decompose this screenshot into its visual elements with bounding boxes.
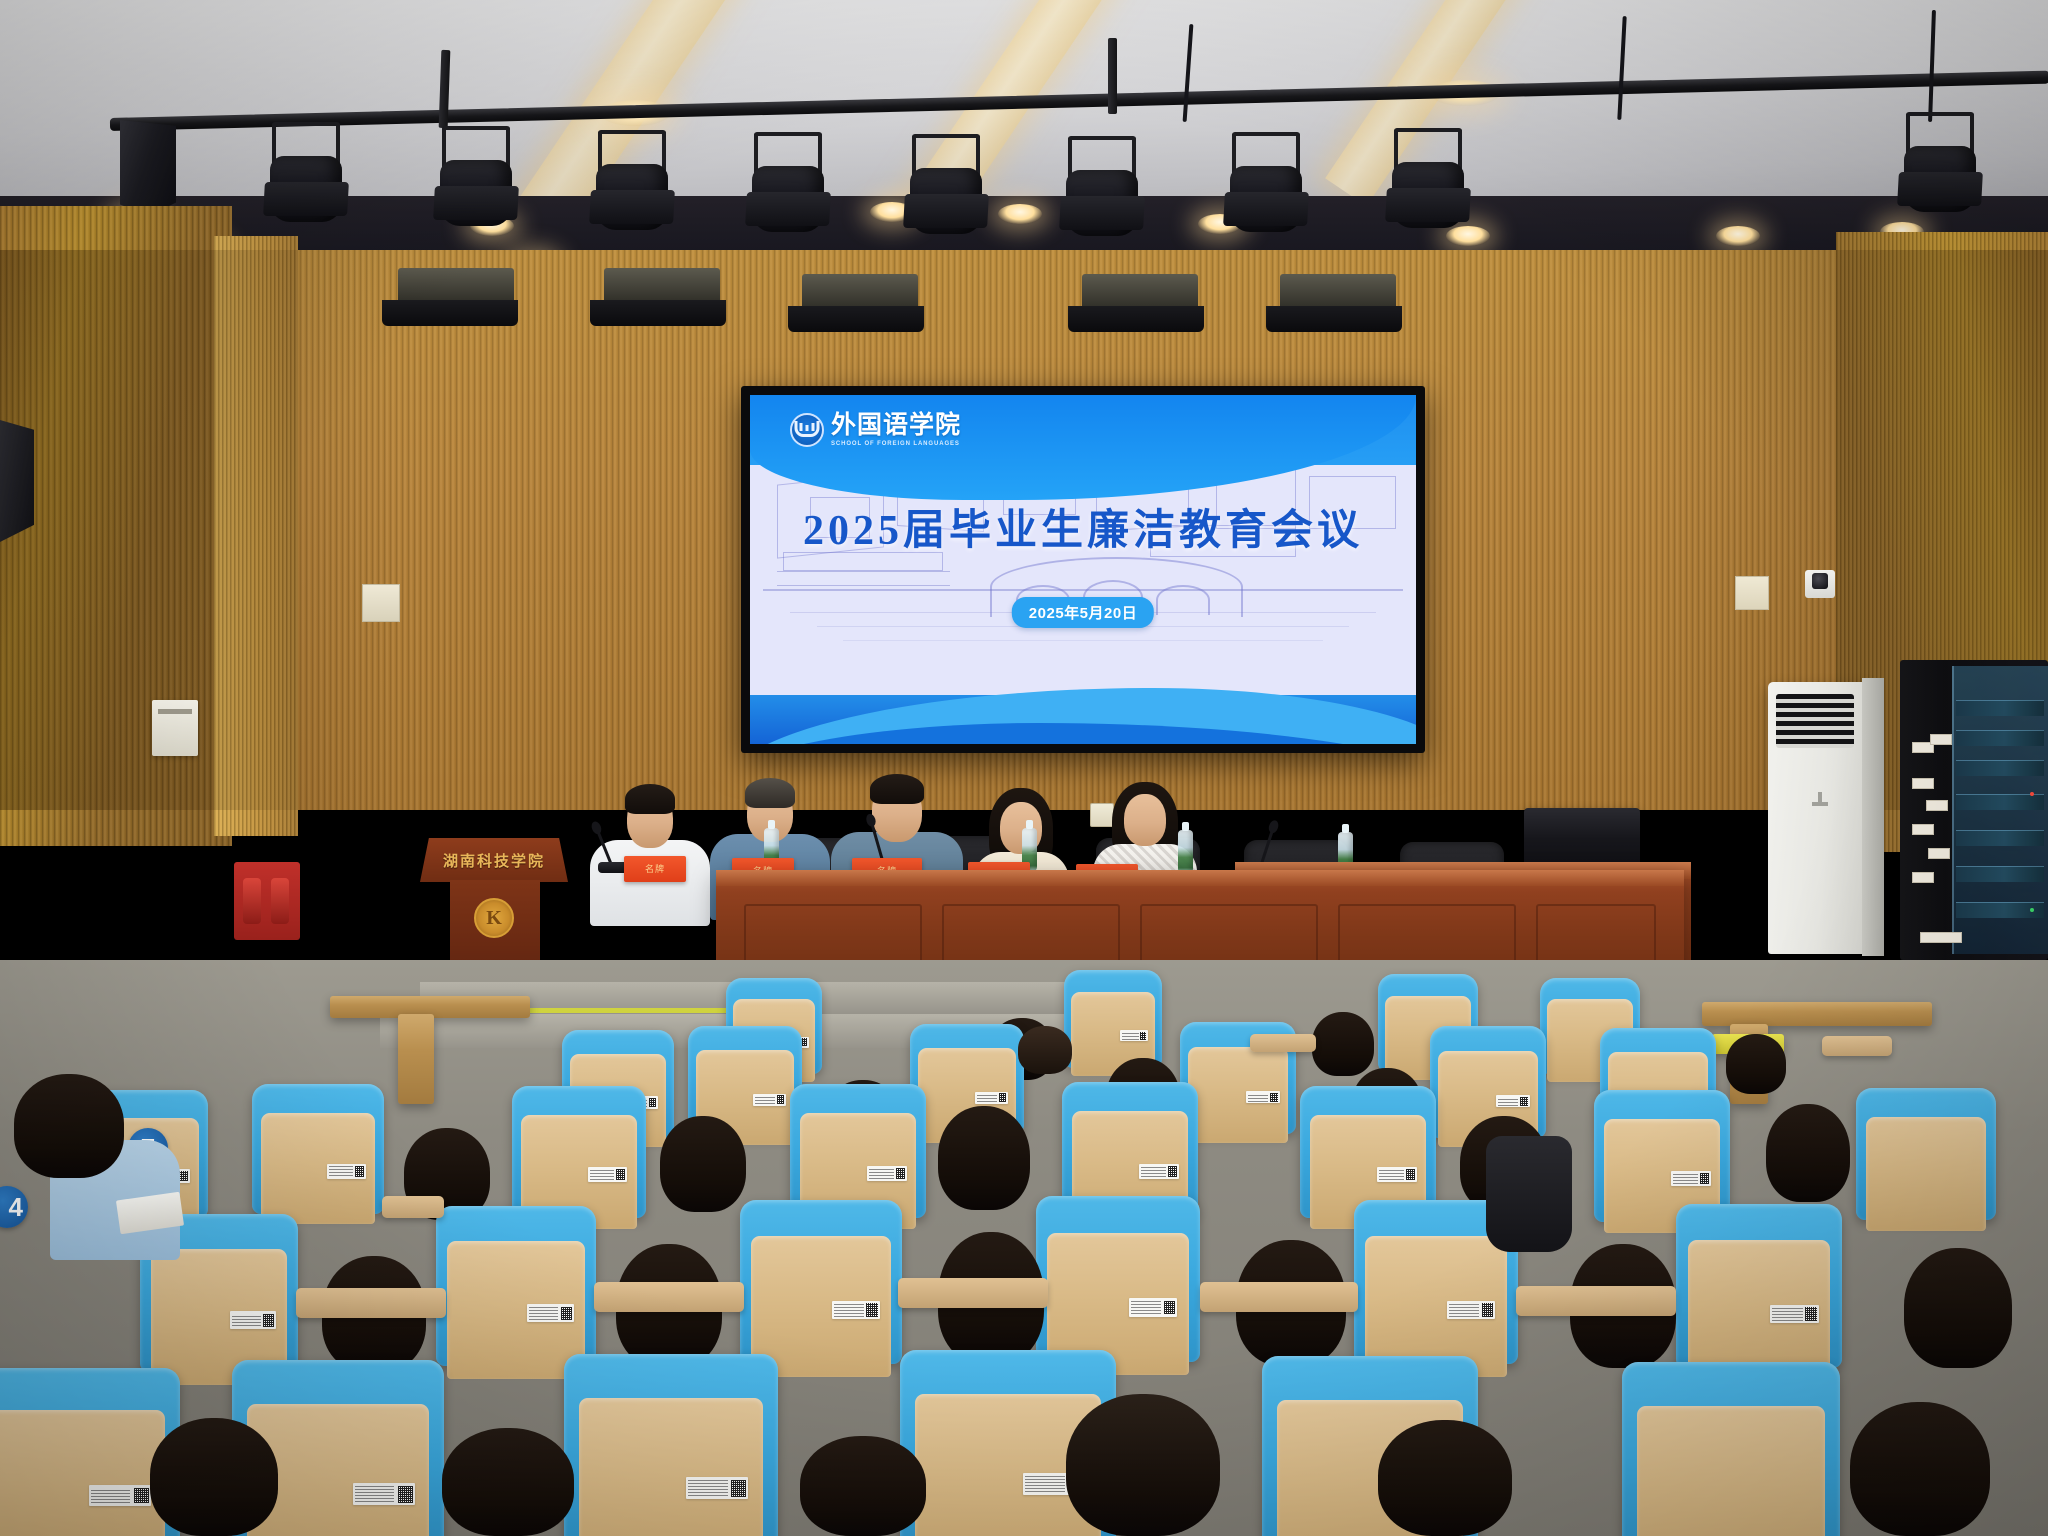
audience-head — [660, 1116, 746, 1212]
auditorium-seat — [1594, 1090, 1730, 1222]
auditorium-seat — [1622, 1362, 1840, 1536]
audience-head — [14, 1074, 124, 1178]
seat-label-text — [232, 1314, 261, 1326]
seat-back-panel — [1688, 1240, 1831, 1381]
seat-qr-label — [1496, 1095, 1530, 1108]
av-equipment-rack — [1900, 660, 2048, 960]
stage-spotlight — [748, 132, 828, 236]
rack-status-led — [2030, 908, 2034, 912]
seat-armrest — [382, 1196, 444, 1218]
wall-box-slot — [158, 709, 192, 714]
seat-back-panel — [0, 1410, 165, 1536]
ac-grille — [1776, 694, 1854, 748]
school-name-en: SCHOOL OF FOREIGN LANGUAGES — [831, 441, 961, 447]
auditorium-seat — [252, 1084, 384, 1214]
lectern-label: 湖南科技学院 — [420, 850, 568, 871]
wall-speaker — [0, 420, 34, 542]
seat-label-text — [91, 1488, 130, 1503]
auditorium-photo: 外国语学院 SCHOOL OF FOREIGN LANGUAGES 2025届毕… — [0, 0, 2048, 1536]
seat-back-panel — [1637, 1406, 1824, 1536]
auditorium-seat — [1676, 1204, 1842, 1368]
seat-label-text — [1122, 1032, 1139, 1040]
seat-label-text — [977, 1094, 997, 1103]
table-top-edge — [716, 870, 1684, 886]
wall-control-box — [152, 700, 198, 756]
seat-qr-label — [1246, 1091, 1280, 1104]
seat-armrest — [1250, 1034, 1316, 1052]
rack-card — [1956, 866, 2044, 882]
seat-armrest — [594, 1282, 744, 1312]
stage-wash-light-body — [382, 300, 518, 326]
qr-code-icon — [777, 1095, 785, 1104]
seat-back-panel — [1866, 1117, 1986, 1231]
audience-head — [1726, 1034, 1786, 1094]
qr-code-icon — [1140, 1032, 1146, 1040]
stage-spotlight — [1062, 136, 1142, 240]
seat-label-text — [834, 1304, 863, 1317]
stage-spotlight — [266, 122, 346, 226]
qr-code-icon — [179, 1171, 188, 1182]
spotlight-barndoor — [745, 192, 831, 226]
truss-dropper — [1108, 38, 1117, 114]
meeting-date-badge: 2025年5月20日 — [1012, 597, 1154, 628]
qr-code-icon — [616, 1169, 625, 1180]
audience-head — [1378, 1420, 1512, 1536]
auditorium-seat — [1856, 1088, 1996, 1220]
seat-label-text — [1141, 1167, 1165, 1177]
rack-card — [1956, 830, 2044, 846]
audience-head — [1066, 1394, 1220, 1536]
side-desk — [1702, 1002, 1932, 1026]
air-conditioner — [1768, 682, 1874, 954]
panelist-head — [1124, 794, 1166, 846]
meeting-title: 2025届毕业生廉洁教育会议 — [750, 496, 1416, 557]
wall-mounted-panel — [362, 584, 400, 622]
backpack — [1486, 1136, 1572, 1252]
school-name-cn: 外国语学院 — [831, 413, 961, 438]
spotlight-barndoor — [1223, 192, 1309, 226]
seat-qr-label — [588, 1167, 627, 1182]
audience-head — [800, 1436, 926, 1536]
seat-qr-label — [1671, 1171, 1711, 1186]
side-desk-leg — [398, 1014, 434, 1104]
seat-qr-label — [867, 1166, 907, 1181]
qr-code-icon — [1700, 1173, 1709, 1184]
qr-code-icon — [731, 1480, 746, 1497]
fire-extinguisher — [243, 878, 261, 924]
sketch-pavilion-rail — [777, 585, 950, 587]
emblem-crown-mark — [799, 423, 814, 431]
seat-qr-label — [1770, 1305, 1819, 1323]
spotlight-barndoor — [1897, 172, 1983, 206]
seat-label-text — [755, 1096, 775, 1105]
audience-head — [1850, 1402, 1990, 1536]
rack-label — [1926, 800, 1948, 811]
seat-qr-label — [753, 1094, 786, 1106]
spotlight-barndoor — [263, 182, 349, 216]
seat-armrest — [1516, 1286, 1676, 1316]
seat-label-text — [1673, 1173, 1697, 1183]
qr-code-icon — [999, 1093, 1007, 1102]
seat-armrest — [1200, 1282, 1358, 1312]
rack-label — [1920, 932, 1962, 943]
rack-label — [1912, 872, 1934, 883]
seat-qr-label — [686, 1477, 749, 1499]
seat-armrest — [898, 1278, 1048, 1308]
spotlight-barndoor — [903, 194, 989, 228]
auditorium-seat — [512, 1086, 646, 1218]
qr-code-icon — [1520, 1097, 1528, 1106]
audience-head — [1766, 1104, 1850, 1202]
stage-wash-light-body — [1068, 306, 1204, 332]
seat-label-text — [1025, 1476, 1065, 1492]
spotlight-barndoor — [1059, 196, 1145, 230]
ac-brand-logo — [1812, 792, 1828, 806]
rack-label — [1928, 848, 1950, 859]
stage-wash-light-body — [1266, 306, 1402, 332]
qr-code-icon — [1270, 1093, 1278, 1102]
auditorium-seat — [564, 1354, 778, 1536]
audience-head — [150, 1418, 278, 1536]
seat-qr-label — [832, 1301, 879, 1319]
seat-qr-label — [1377, 1167, 1417, 1182]
fire-extinguisher — [271, 878, 289, 924]
seat-label-text — [1772, 1308, 1802, 1321]
auditorium-seat — [790, 1084, 926, 1218]
rack-label — [1930, 734, 1952, 745]
panelist-hair — [625, 784, 675, 814]
qr-code-icon — [1482, 1303, 1493, 1317]
qr-code-icon — [649, 1098, 656, 1107]
panelist-nameplate: 名牌 — [624, 856, 686, 882]
qr-code-icon — [1805, 1307, 1817, 1321]
seat-label-text — [329, 1166, 353, 1176]
seat-label-text — [1498, 1097, 1518, 1106]
auditorium-seat — [436, 1206, 596, 1366]
school-logo-text: 外国语学院 SCHOOL OF FOREIGN LANGUAGES — [831, 413, 961, 447]
spotlight-barndoor — [433, 186, 519, 220]
fire-extinguisher-cabinet — [234, 862, 300, 940]
rack-card — [1956, 700, 2044, 716]
auditorium-seat — [740, 1200, 902, 1364]
panelist-hair — [745, 778, 795, 808]
qr-code-icon — [355, 1166, 364, 1177]
wall-plate — [1735, 576, 1769, 610]
screen-content: 外国语学院 SCHOOL OF FOREIGN LANGUAGES 2025届毕… — [750, 395, 1416, 744]
auditorium-seat — [1064, 970, 1162, 1068]
audience-head — [938, 1106, 1030, 1210]
seat-label-text — [1248, 1093, 1268, 1102]
sketch-bridge-opening — [1156, 585, 1209, 615]
rack-status-led — [2030, 792, 2034, 796]
seat-qr-label — [89, 1485, 150, 1506]
seat-back-panel — [1188, 1047, 1288, 1143]
soffit-downlight — [998, 204, 1042, 224]
seat-label-text — [590, 1169, 614, 1179]
seat-back-panel — [579, 1398, 763, 1536]
school-logo: 外国语学院 SCHOOL OF FOREIGN LANGUAGES — [790, 413, 961, 447]
audience-head — [1904, 1248, 2012, 1368]
audience-hair-bun — [1018, 1026, 1072, 1074]
school-crest-icon — [474, 898, 514, 938]
qr-code-icon — [561, 1307, 572, 1320]
seat-back-panel — [261, 1113, 375, 1225]
seat-qr-label — [327, 1164, 366, 1179]
spotlight-barndoor — [589, 190, 675, 224]
seat-qr-label — [230, 1311, 276, 1329]
stage-spotlight — [592, 130, 672, 234]
stage-spotlight — [436, 126, 516, 230]
rack-label — [1912, 778, 1934, 789]
air-conditioner-side — [1862, 678, 1884, 956]
stage-spotlight — [1388, 128, 1468, 232]
seat-label-text — [1379, 1169, 1403, 1179]
led-display-screen: 外国语学院 SCHOOL OF FOREIGN LANGUAGES 2025届毕… — [741, 386, 1425, 753]
panelist-hair — [870, 774, 924, 804]
qr-code-icon — [1168, 1166, 1177, 1177]
sketch-water — [843, 640, 1323, 641]
lectern: 湖南科技学院 — [420, 838, 568, 980]
rack-label — [1912, 824, 1934, 835]
seat-label-text — [355, 1486, 394, 1502]
qr-code-icon — [1406, 1169, 1415, 1180]
stage-wash-light-body — [788, 306, 924, 332]
seat-qr-label — [1120, 1030, 1149, 1041]
audience-head — [442, 1428, 574, 1536]
seat-qr-label — [1139, 1164, 1179, 1179]
nameplate-text: 名牌 — [624, 862, 686, 875]
sketch-pavilion-rail — [777, 571, 950, 573]
left-wall-shadow — [0, 250, 400, 810]
soffit-downlight — [1716, 226, 1760, 246]
water-bottle — [1178, 830, 1193, 874]
seat-qr-label — [353, 1483, 415, 1505]
qr-code-icon — [398, 1486, 413, 1503]
stage-spotlight — [1226, 132, 1306, 236]
qr-code-icon — [263, 1314, 274, 1327]
seat-qr-label — [1129, 1298, 1177, 1317]
stage-spotlight — [1900, 112, 1980, 216]
hanging-speaker — [120, 120, 176, 216]
stage-spotlight — [906, 134, 986, 238]
auditorium-seat — [1300, 1086, 1436, 1218]
stage-wash-light-body — [590, 300, 726, 326]
seat-qr-label — [975, 1092, 1008, 1104]
auditorium-seat — [1036, 1196, 1200, 1362]
qr-code-icon — [134, 1488, 149, 1504]
audience-head — [1312, 1012, 1374, 1076]
auditorium-seat — [0, 1368, 180, 1536]
qr-code-icon — [896, 1168, 905, 1179]
rack-card — [1956, 760, 2044, 776]
school-emblem-icon — [790, 413, 824, 447]
seat-qr-label — [527, 1304, 574, 1322]
seat-label-text — [529, 1307, 558, 1320]
qr-code-icon — [866, 1303, 877, 1317]
seat-armrest — [296, 1288, 446, 1318]
wall-camera-icon — [1805, 570, 1835, 598]
seat-label-text — [869, 1169, 893, 1179]
seat-qr-label — [1447, 1301, 1495, 1319]
seat-label-text — [688, 1480, 728, 1496]
seat-label-text — [1131, 1301, 1161, 1314]
rack-card — [1956, 794, 2044, 810]
spotlight-barndoor — [1385, 188, 1471, 222]
seat-armrest — [1822, 1036, 1892, 1056]
seat-label-text — [1449, 1304, 1479, 1317]
rack-card — [1956, 730, 2044, 746]
qr-code-icon — [1164, 1301, 1175, 1315]
